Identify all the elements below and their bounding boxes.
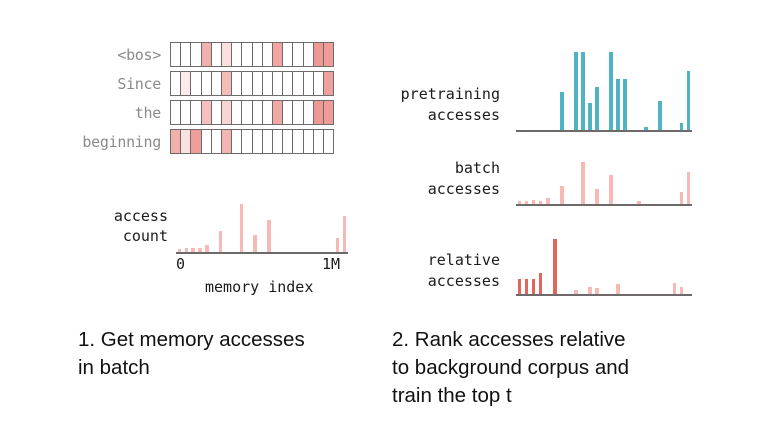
xtick-max: 1M xyxy=(322,255,340,273)
bar xyxy=(539,273,543,294)
relative-accesses-plot-area xyxy=(516,238,692,294)
access-count-ylabel: access count xyxy=(88,206,168,246)
right-caption-line: to background corpus and xyxy=(392,354,702,382)
left-caption: 1. Get memory accessesin batch xyxy=(78,326,378,382)
bar xyxy=(588,287,592,294)
batch-accesses-axis xyxy=(516,204,692,206)
pretraining-accesses-axis xyxy=(516,130,692,132)
memory-cell-strip xyxy=(170,42,333,67)
bar xyxy=(560,186,564,204)
access-count-chart: access count 0 1M memory index xyxy=(88,200,353,295)
batch-accesses-plot-area xyxy=(516,158,692,204)
bar xyxy=(680,287,684,294)
access-count-axis xyxy=(176,252,348,254)
bar xyxy=(588,103,592,130)
relative-accesses-label: relativeaccesses xyxy=(368,250,500,292)
pretraining-accesses-label: pretrainingaccesses xyxy=(368,84,500,126)
bar xyxy=(687,172,691,204)
relative-accesses-label-line: relative xyxy=(368,250,500,271)
batch-accesses-label-line: accesses xyxy=(368,179,500,200)
left-caption-line: 1. Get memory accesses xyxy=(78,326,378,354)
token-row: <bos> xyxy=(58,42,353,67)
bar xyxy=(553,239,557,294)
token-row-label: Since xyxy=(58,75,170,93)
bar xyxy=(581,52,585,130)
relative-accesses-label-line: accesses xyxy=(368,271,500,292)
memory-cell[interactable] xyxy=(323,129,334,154)
memory-cell[interactable] xyxy=(323,100,334,125)
relative-accesses-axis xyxy=(516,294,692,296)
token-row-label: the xyxy=(58,104,170,122)
batch-accesses-bars xyxy=(516,158,692,204)
token-row: beginning xyxy=(58,129,353,154)
bar xyxy=(525,279,529,294)
relative-accesses-bars xyxy=(516,238,692,294)
right-caption: 2. Rank accesses relativeto background c… xyxy=(392,326,702,410)
bar xyxy=(673,283,677,294)
left-caption-line: in batch xyxy=(78,354,378,382)
right-caption-line: train the top t xyxy=(392,382,702,410)
memory-cell-strip xyxy=(170,71,333,96)
bar xyxy=(680,192,684,204)
xtick-min: 0 xyxy=(176,255,185,273)
access-count-plot-area xyxy=(176,200,348,252)
bar xyxy=(560,92,564,130)
bar xyxy=(267,220,271,252)
access-count-xlabel: memory index xyxy=(205,278,313,296)
bar xyxy=(658,101,662,130)
bar xyxy=(595,87,599,130)
token-memory-grid: <bos>Sincethebeginning xyxy=(58,42,353,158)
token-row-label: beginning xyxy=(58,133,170,151)
figure-canvas: <bos>Sincethebeginning access count 0 1M… xyxy=(0,0,762,444)
bar xyxy=(623,79,627,130)
bar xyxy=(240,204,244,252)
token-row: the xyxy=(58,100,353,125)
bar xyxy=(219,231,223,252)
pretraining-accesses-bars xyxy=(516,48,692,130)
memory-cell-strip xyxy=(170,129,333,154)
bar xyxy=(687,71,691,130)
bar xyxy=(616,79,620,130)
token-row: Since xyxy=(58,71,353,96)
bar xyxy=(581,162,585,204)
batch-accesses-label-line: batch xyxy=(368,158,500,179)
right-caption-line: 2. Rank accesses relative xyxy=(392,326,702,354)
bar xyxy=(518,279,522,294)
bar xyxy=(343,216,347,252)
pretraining-accesses-plot-area xyxy=(516,48,692,130)
access-count-bars xyxy=(176,200,348,252)
bar xyxy=(574,52,578,130)
bar xyxy=(609,52,613,130)
memory-cell[interactable] xyxy=(323,71,334,96)
pretraining-accesses-label-line: pretraining xyxy=(368,84,500,105)
bar xyxy=(336,238,340,252)
token-row-label: <bos> xyxy=(58,46,170,64)
bar xyxy=(532,279,536,294)
bar xyxy=(609,175,613,204)
pretraining-accesses-label-line: accesses xyxy=(368,105,500,126)
bar xyxy=(616,284,620,294)
memory-cell-strip xyxy=(170,100,333,125)
bar xyxy=(205,245,209,252)
batch-accesses-label: batchaccesses xyxy=(368,158,500,200)
bar xyxy=(595,189,599,204)
bar xyxy=(253,235,257,252)
memory-cell[interactable] xyxy=(323,42,334,67)
